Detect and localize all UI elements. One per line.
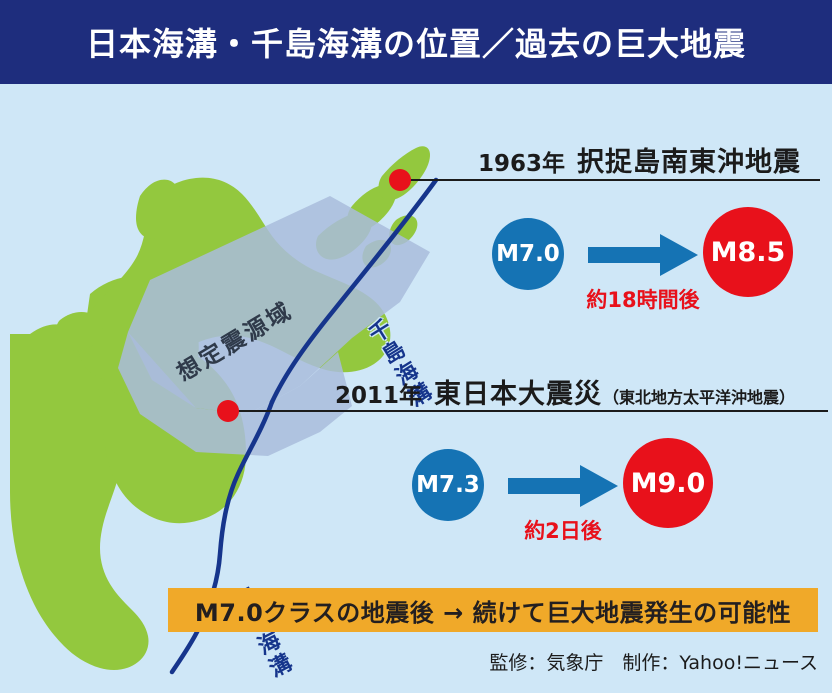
event-subname: （東北地方太平洋沖地震） (603, 384, 795, 408)
magnitude-to-circle: M9.0 (623, 438, 713, 528)
magnitude-from-circle: M7.3 (412, 449, 484, 521)
event-heading-2011: 2011年 東日本大震災 （東北地方太平洋沖地震） (335, 372, 795, 411)
magnitude-to-circle: M8.5 (703, 207, 793, 297)
delay-label: 約2日後 (493, 515, 633, 545)
delay-label: 約18時間後 (573, 284, 713, 314)
event-marker-dot-2011 (217, 400, 239, 422)
event-name: 択捉島南東沖地震 (577, 140, 801, 179)
event-year: 2011年 (335, 376, 422, 410)
conclusion-banner: M7.0クラスの地震後 → 続けて巨大地震発生の可能性 (168, 588, 818, 632)
progression-arrow-icon (588, 234, 698, 276)
credits-line: 監修：気象庁 制作：Yahoo!ニュース (489, 648, 818, 675)
event-rule-2011 (228, 410, 828, 412)
progression-arrow-icon (508, 465, 618, 507)
infographic-page: 日本海溝・千島海溝の位置／過去の巨大地震 (0, 0, 832, 693)
event-year: 1963年 (478, 144, 565, 178)
event-marker-dot-1963 (389, 169, 411, 191)
event-name: 東日本大震災 (434, 372, 602, 411)
conclusion-text: M7.0クラスの地震後 → 続けて巨大地震発生の可能性 (195, 593, 791, 628)
event-rule-1963 (400, 179, 820, 181)
page-title: 日本海溝・千島海溝の位置／過去の巨大地震 (0, 0, 832, 84)
magnitude-from-circle: M7.0 (492, 218, 564, 290)
event-heading-1963: 1963年 択捉島南東沖地震 (478, 140, 801, 179)
header-bar: 日本海溝・千島海溝の位置／過去の巨大地震 (0, 0, 832, 84)
